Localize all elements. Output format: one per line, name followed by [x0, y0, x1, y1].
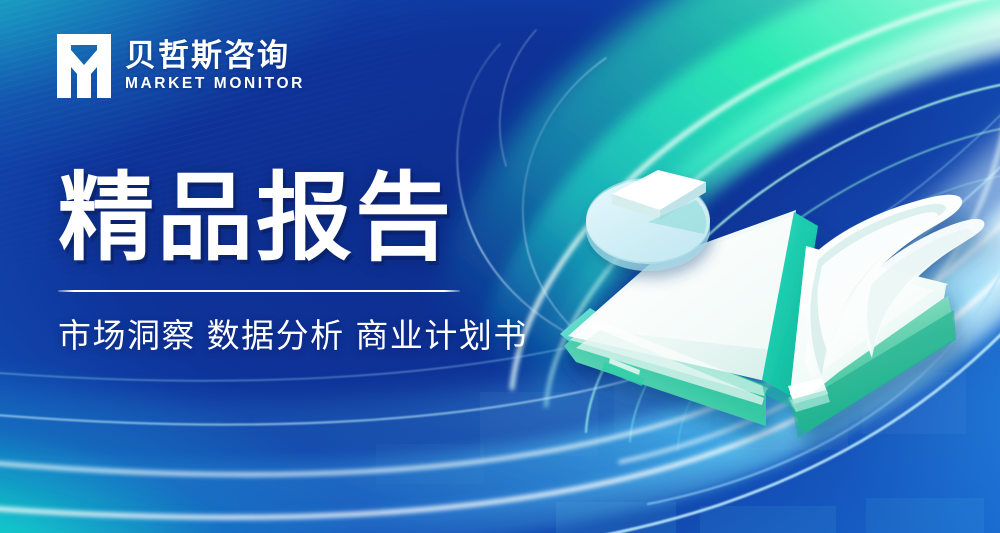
- hero-text-block: 精品报告 市场洞察 数据分析 商业计划书: [58, 168, 528, 355]
- brand-logo[interactable]: 贝哲斯咨询 MARKET MONITOR: [57, 34, 305, 98]
- brand-name-en: MARKET MONITOR: [125, 76, 305, 92]
- title-divider: [58, 290, 460, 292]
- page-title: 精品报告: [58, 168, 528, 270]
- open-book-icon: [556, 150, 956, 450]
- market-monitor-m-mark-icon: [57, 34, 111, 98]
- hero-subtitle: 市场洞察 数据分析 商业计划书: [58, 316, 528, 356]
- open-book-illustration: [556, 150, 956, 450]
- report-promo-banner: 贝哲斯咨询 MARKET MONITOR 精品报告 市场洞察 数据分析 商业计划…: [0, 0, 1000, 533]
- brand-logo-text: 贝哲斯咨询 MARKET MONITOR: [125, 40, 305, 92]
- brand-name-cn: 贝哲斯咨询: [125, 40, 305, 71]
- pie-chart-disc-icon: [586, 170, 710, 271]
